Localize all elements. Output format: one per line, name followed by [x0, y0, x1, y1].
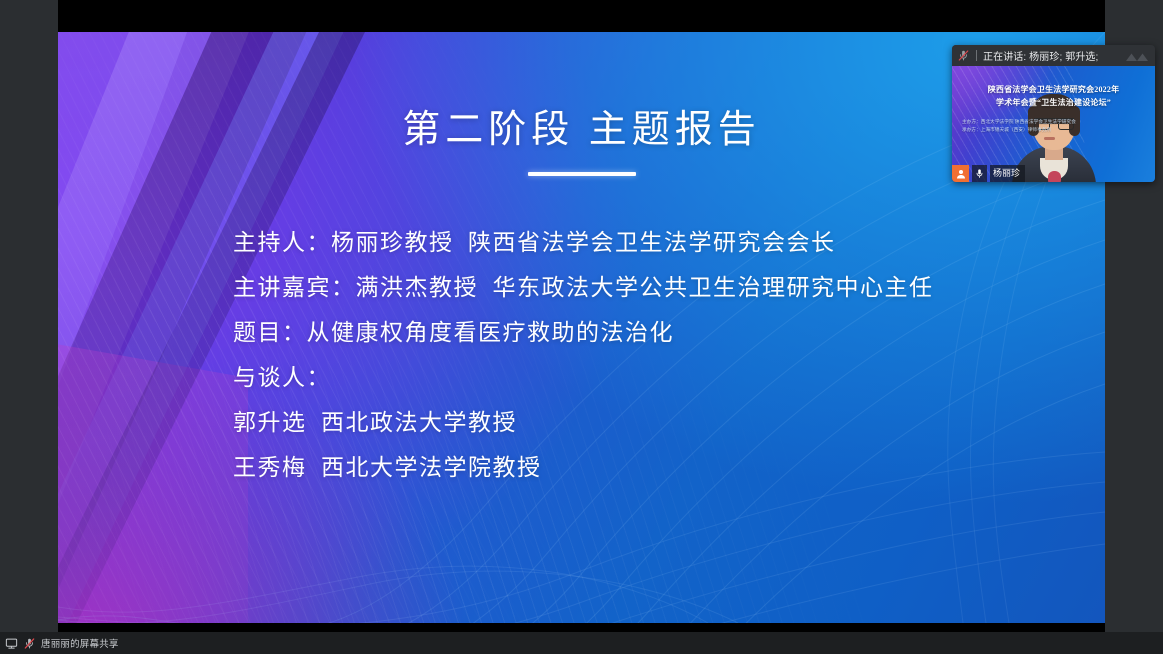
- slide-body-line-topic: 题目：从健康权角度看医疗救助的法治化: [233, 310, 1045, 355]
- slide-body-line-speaker: 主讲嘉宾：满洪杰教授 华东政法大学公共卫生治理研究中心主任: [233, 265, 1045, 310]
- page-title: 第二阶段 主题报告: [58, 98, 1105, 153]
- zoom-meeting-window: 第二阶段 主题报告 主持人：杨丽珍教授 陕西省法学会卫生法学研究会会长 主讲嘉宾…: [0, 0, 1163, 654]
- person-avatar-icon: [952, 165, 969, 182]
- slide-body-line-panelist-2: 王秀梅 西北大学法学院教授: [233, 445, 1045, 490]
- slide-body-line-host: 主持人：杨丽珍教授 陕西省法学会卫生法学研究会会长: [233, 220, 1045, 265]
- mic-muted-icon: [957, 49, 970, 62]
- pip-header-bar[interactable]: 正在讲话: 杨丽珍; 郭升选;: [952, 45, 1155, 66]
- active-speaker-label: 正在讲话: 杨丽珍; 郭升选;: [983, 48, 1118, 63]
- pip-header-divider: [976, 50, 977, 61]
- participant-video-feed[interactable]: 陕西省法学会卫生法学研究会2022年 学术年会暨“卫生法治建设论坛” 主办方：西…: [952, 66, 1155, 182]
- participant-video-pip[interactable]: 正在讲话: 杨丽珍; 郭升选;: [952, 45, 1155, 182]
- participant-name-label: 杨丽珍: [990, 165, 1025, 182]
- slide-body: 主持人：杨丽珍教授 陕西省法学会卫生法学研究会会长 主讲嘉宾：满洪杰教授 华东政…: [233, 220, 1045, 490]
- participant-name-badge: 杨丽珍: [952, 165, 1031, 182]
- screen-share-status-label: 唐丽丽的屏幕共享: [41, 636, 119, 650]
- title-underline-rule: [528, 172, 636, 176]
- pip-inner-slide-title: 陕西省法学会卫生法学研究会2022年 学术年会暨“卫生法治建设论坛”: [952, 83, 1155, 109]
- microphone-icon: [972, 165, 987, 182]
- mic-muted-icon: [23, 637, 36, 650]
- double-chevron-collapse-icon[interactable]: [1124, 50, 1150, 62]
- pip-inner-slide-subtitle: 主办方：西北大学法学院 陕西省法学会卫生法学研究会 承办方：上海市锦天城（西安）…: [962, 118, 1076, 134]
- shared-slide[interactable]: 第二阶段 主题报告 主持人：杨丽珍教授 陕西省法学会卫生法学研究会会长 主讲嘉宾…: [58, 32, 1105, 623]
- screen-share-status-bar: 唐丽丽的屏幕共享: [0, 632, 1163, 654]
- slide-body-line-panelist-1: 郭升选 西北政法大学教授: [233, 400, 1045, 445]
- slide-body-line-panelists: 与谈人：: [233, 355, 1045, 400]
- screen-share-icon: [5, 637, 18, 650]
